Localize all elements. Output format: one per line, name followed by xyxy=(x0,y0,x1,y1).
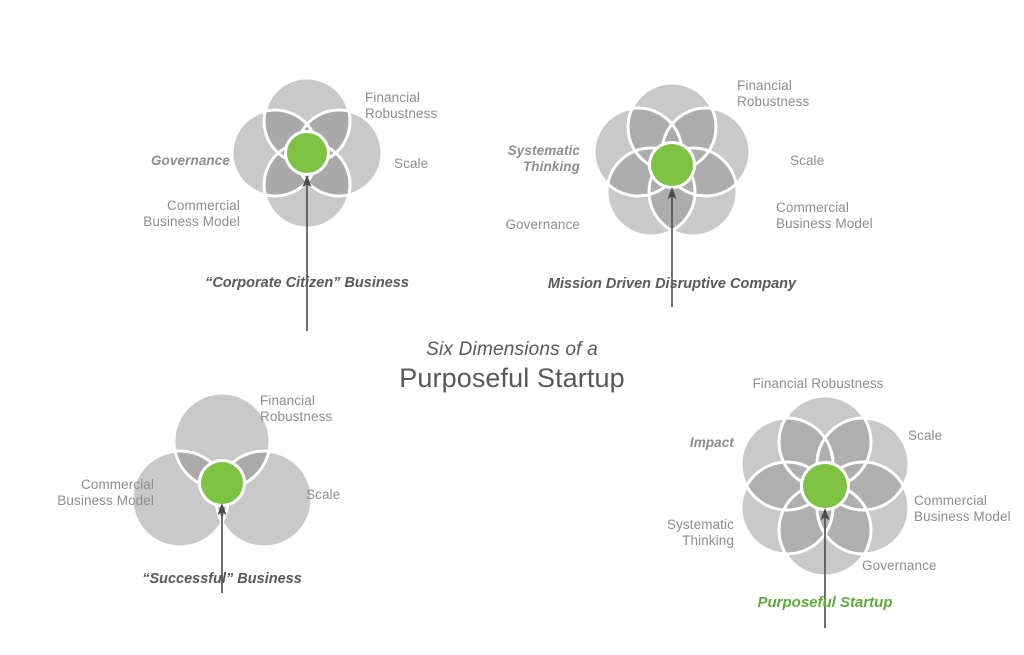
caption-corporate-citizen: “Corporate Citizen” Business xyxy=(122,275,492,291)
label-scale: Scale xyxy=(306,487,396,503)
label-commercial-business-model: Commercial Business Model xyxy=(4,477,154,509)
label-commercial-business-model: Commercial Business Model xyxy=(914,493,1024,525)
page-title: Six Dimensions of a Purposeful Startup xyxy=(347,338,677,394)
label-financial-robustness: Financial Robustness xyxy=(365,90,475,122)
label-financial-robustness: Financial Robustness xyxy=(737,78,857,110)
label-financial-robustness: Financial Robustness xyxy=(260,393,380,425)
label-impact: Impact xyxy=(594,435,734,451)
core-circle xyxy=(803,464,847,508)
label-financial-robustness: Financial Robustness xyxy=(688,376,948,392)
caption-purposeful-startup: Purposeful Startup xyxy=(685,594,965,611)
label-governance: Governance xyxy=(100,153,230,169)
label-scale: Scale xyxy=(908,428,998,444)
label-scale: Scale xyxy=(790,153,880,169)
caption-mission-driven: Mission Driven Disruptive Company xyxy=(472,276,872,292)
title-subtitle: Six Dimensions of a xyxy=(347,338,677,362)
label-commercial-business-model: Commercial Business Model xyxy=(100,198,240,230)
label-systematic-thinking: Systematic Thinking xyxy=(440,143,580,175)
core-circle xyxy=(201,462,243,504)
diagram-canvas: Financial Robustness Scale Commercial Bu… xyxy=(0,0,1024,655)
label-systematic-thinking: Systematic Thinking xyxy=(594,517,734,549)
pointer-arrow-corporate-citizen xyxy=(232,173,382,333)
label-commercial-business-model: Commercial Business Model xyxy=(776,200,916,232)
diagram-successful-business: Financial Robustness Scale Commercial Bu… xyxy=(146,393,298,548)
label-governance: Governance xyxy=(440,217,580,233)
diagram-corporate-citizen: Financial Robustness Scale Commercial Bu… xyxy=(232,78,382,228)
core-circle xyxy=(287,133,327,173)
diagram-purposeful-startup: Financial Robustness Scale Commercial Bu… xyxy=(742,398,908,568)
core-circle xyxy=(651,144,693,186)
diagram-mission-driven: Financial Robustness Scale Commercial Bu… xyxy=(592,80,752,240)
title-main: Purposeful Startup xyxy=(347,362,677,394)
label-governance: Governance xyxy=(862,558,1002,574)
caption-successful-business: “Successful” Business xyxy=(82,571,362,587)
